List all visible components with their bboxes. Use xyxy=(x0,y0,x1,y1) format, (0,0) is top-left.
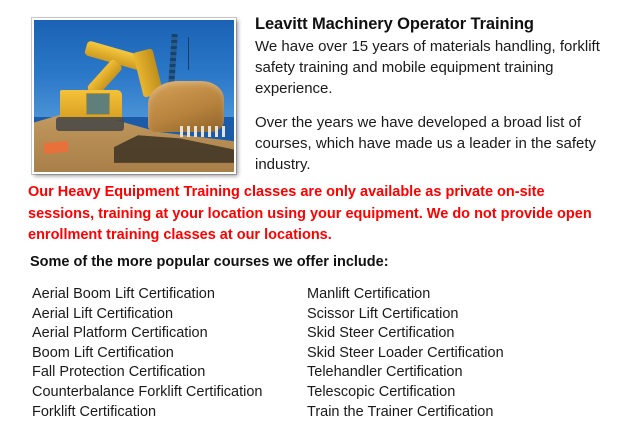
intro-section: Leavitt Machinery Operator Training We h… xyxy=(0,0,619,178)
intro-paragraph-1: We have over 15 years of materials handl… xyxy=(255,36,605,99)
course-item: Skid Steer Loader Certification xyxy=(307,344,582,364)
excavator-tracks xyxy=(56,117,124,131)
private-training-notice: Our Heavy Equipment Training classes are… xyxy=(28,182,603,247)
excavator-bucket-teeth xyxy=(180,126,228,137)
course-item: Counterbalance Forklift Certification xyxy=(32,383,307,403)
excavator-cab-window xyxy=(86,93,110,115)
course-item: Aerial Platform Certification xyxy=(32,324,307,344)
orange-marker xyxy=(44,140,69,153)
course-item: Fall Protection Certification xyxy=(32,363,307,383)
excavator-photo-frame xyxy=(32,18,236,174)
course-item: Train the Trainer Certification xyxy=(307,403,582,423)
courses-column-left: Aerial Boom Lift CertificationAerial Lif… xyxy=(32,285,307,422)
crane-cable-icon xyxy=(188,37,189,70)
course-item: Telescopic Certification xyxy=(307,383,582,403)
course-item: Aerial Boom Lift Certification xyxy=(32,285,307,305)
course-item: Forklift Certification xyxy=(32,403,307,423)
course-item: Manlift Certification xyxy=(307,285,582,305)
courses-heading: Some of the more popular courses we offe… xyxy=(30,252,389,272)
course-item: Scissor Lift Certification xyxy=(307,305,582,325)
course-item: Boom Lift Certification xyxy=(32,344,307,364)
course-item: Telehandler Certification xyxy=(307,363,582,383)
excavator-bucket xyxy=(148,81,224,133)
intro-text: Leavitt Machinery Operator Training We h… xyxy=(255,14,605,175)
intro-paragraph-2: Over the years we have developed a broad… xyxy=(255,112,605,175)
courses-list: Aerial Boom Lift CertificationAerial Lif… xyxy=(32,285,592,422)
course-item: Skid Steer Certification xyxy=(307,324,582,344)
excavator-photo xyxy=(34,20,234,172)
course-item: Aerial Lift Certification xyxy=(32,305,307,325)
courses-column-right: Manlift CertificationScissor Lift Certif… xyxy=(307,285,582,422)
page-title: Leavitt Machinery Operator Training xyxy=(255,14,605,35)
